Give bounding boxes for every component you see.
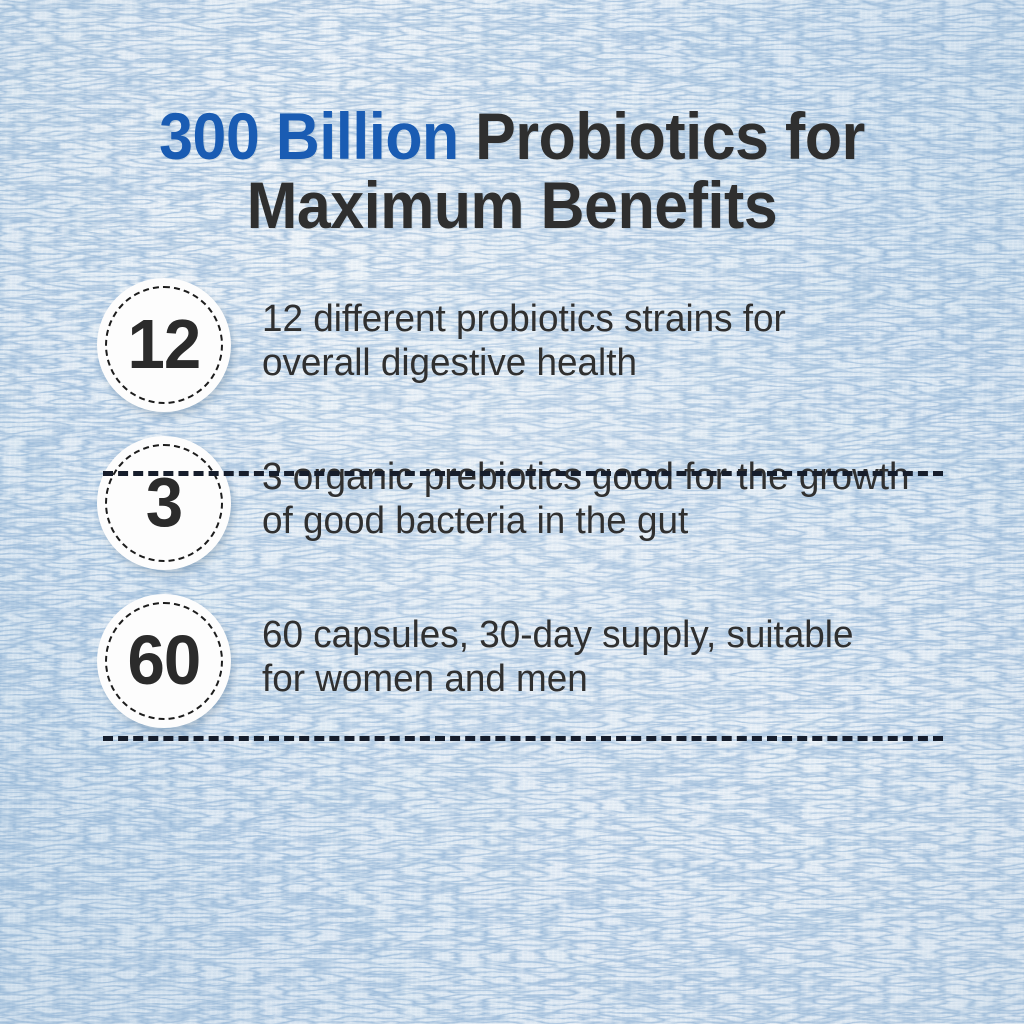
- benefit-badge-number-3: 60: [128, 625, 201, 695]
- benefit-row-2: 3 3 organic prebiotics good for the grow…: [0, 434, 1024, 592]
- benefit-badge-1: 12: [97, 278, 231, 412]
- section-divider-2: [103, 736, 943, 741]
- benefit-text-1-line-1: 12 different probiotics strains for: [262, 297, 953, 341]
- page-title-line-1-rest: Probiotics for: [459, 99, 865, 173]
- benefits-list: 12 12 different probiotics strains for o…: [0, 276, 1024, 750]
- benefit-text-1-line-2: overall digestive health: [262, 341, 953, 385]
- benefit-text-3-line-1: 60 capsules, 30-day supply, suitable: [262, 613, 953, 657]
- page-title-line-1: 300 Billion Probiotics for: [41, 102, 983, 171]
- benefit-row-3: 60 60 capsules, 30-day supply, suitable …: [0, 592, 1024, 750]
- benefit-text-1: 12 different probiotics strains for over…: [262, 297, 953, 386]
- benefit-text-3-line-2: for women and men: [262, 657, 953, 701]
- benefit-text-2: 3 organic prebiotics good for the growth…: [262, 455, 953, 544]
- benefit-badge-number-1: 12: [128, 309, 201, 379]
- section-divider-1: [103, 471, 943, 476]
- benefit-badge-3: 60: [97, 594, 231, 728]
- page-title-accent: 300 Billion: [159, 99, 459, 173]
- page-title-line-2: Maximum Benefits: [41, 171, 983, 240]
- page-title: 300 Billion Probiotics for Maximum Benef…: [41, 102, 983, 239]
- benefit-text-2-line-1: 3 organic prebiotics good for the growth: [262, 455, 953, 499]
- benefit-badge-2: 3: [97, 436, 231, 570]
- benefit-row-1: 12 12 different probiotics strains for o…: [0, 276, 1024, 434]
- benefit-text-2-line-2: of good bacteria in the gut: [262, 499, 953, 543]
- benefit-text-3: 60 capsules, 30-day supply, suitable for…: [262, 613, 953, 702]
- benefit-badge-number-2: 3: [146, 467, 182, 537]
- probiotics-benefits-infographic: 300 Billion Probiotics for Maximum Benef…: [0, 0, 1024, 1024]
